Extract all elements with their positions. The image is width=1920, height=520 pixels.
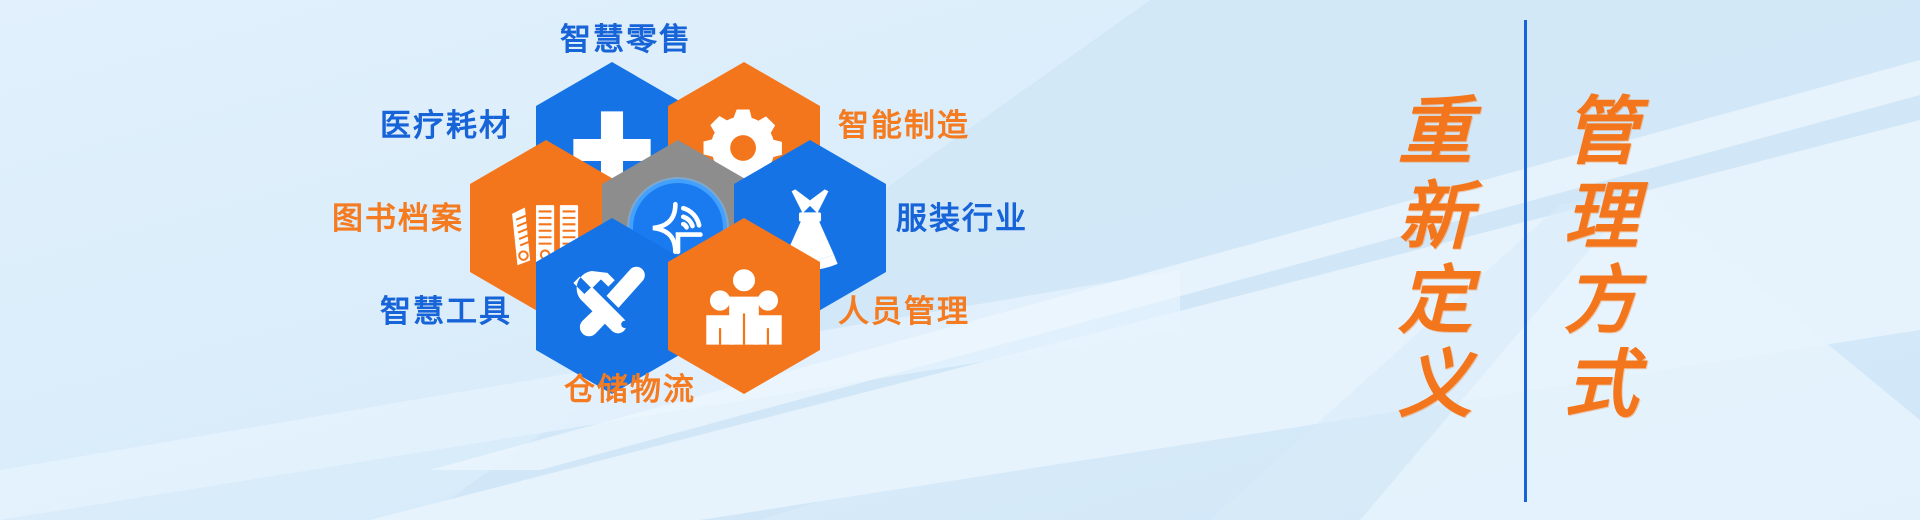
vertical-divider	[1524, 20, 1527, 502]
calligraphy-char: 新	[1398, 179, 1472, 257]
label-manufacturing: 智能制造	[838, 100, 970, 145]
calligraphy-column-left: 重 新 定 义	[1380, 0, 1490, 520]
label-books-archive: 图书档案	[332, 193, 464, 238]
label-personnel: 人员管理	[838, 286, 970, 331]
label-apparel: 服装行业	[896, 193, 1028, 238]
calligraphy-char: 方	[1564, 263, 1638, 341]
calligraphy-char: 定	[1398, 263, 1472, 341]
label-medical: 医疗耗材	[380, 100, 512, 145]
wrench-screwdriver-icon	[566, 260, 658, 352]
people-group-icon	[698, 260, 790, 352]
calligraphy-column-right: 管 理 方 式	[1546, 0, 1656, 520]
hexagon-cluster: 智慧零售 医疗耗材 智能制造 图书档案 服装行业 智慧工具 人员管理 仓储物流	[430, 0, 1070, 520]
calligraphy-char: 重	[1398, 94, 1472, 172]
label-smart-tools: 智慧工具	[380, 286, 512, 331]
calligraphy-char: 管	[1564, 94, 1638, 172]
label-logistics: 仓储物流	[564, 364, 696, 409]
calligraphy-block: 重 新 定 义 管 理 方 式	[1380, 0, 1680, 520]
calligraphy-char: 式	[1564, 347, 1638, 425]
calligraphy-char: 理	[1564, 179, 1638, 257]
label-retail: 智慧零售	[560, 14, 692, 59]
calligraphy-char: 义	[1398, 347, 1472, 425]
marketing-banner: 智慧零售 医疗耗材 智能制造 图书档案 服装行业 智慧工具 人员管理 仓储物流 …	[0, 0, 1920, 520]
